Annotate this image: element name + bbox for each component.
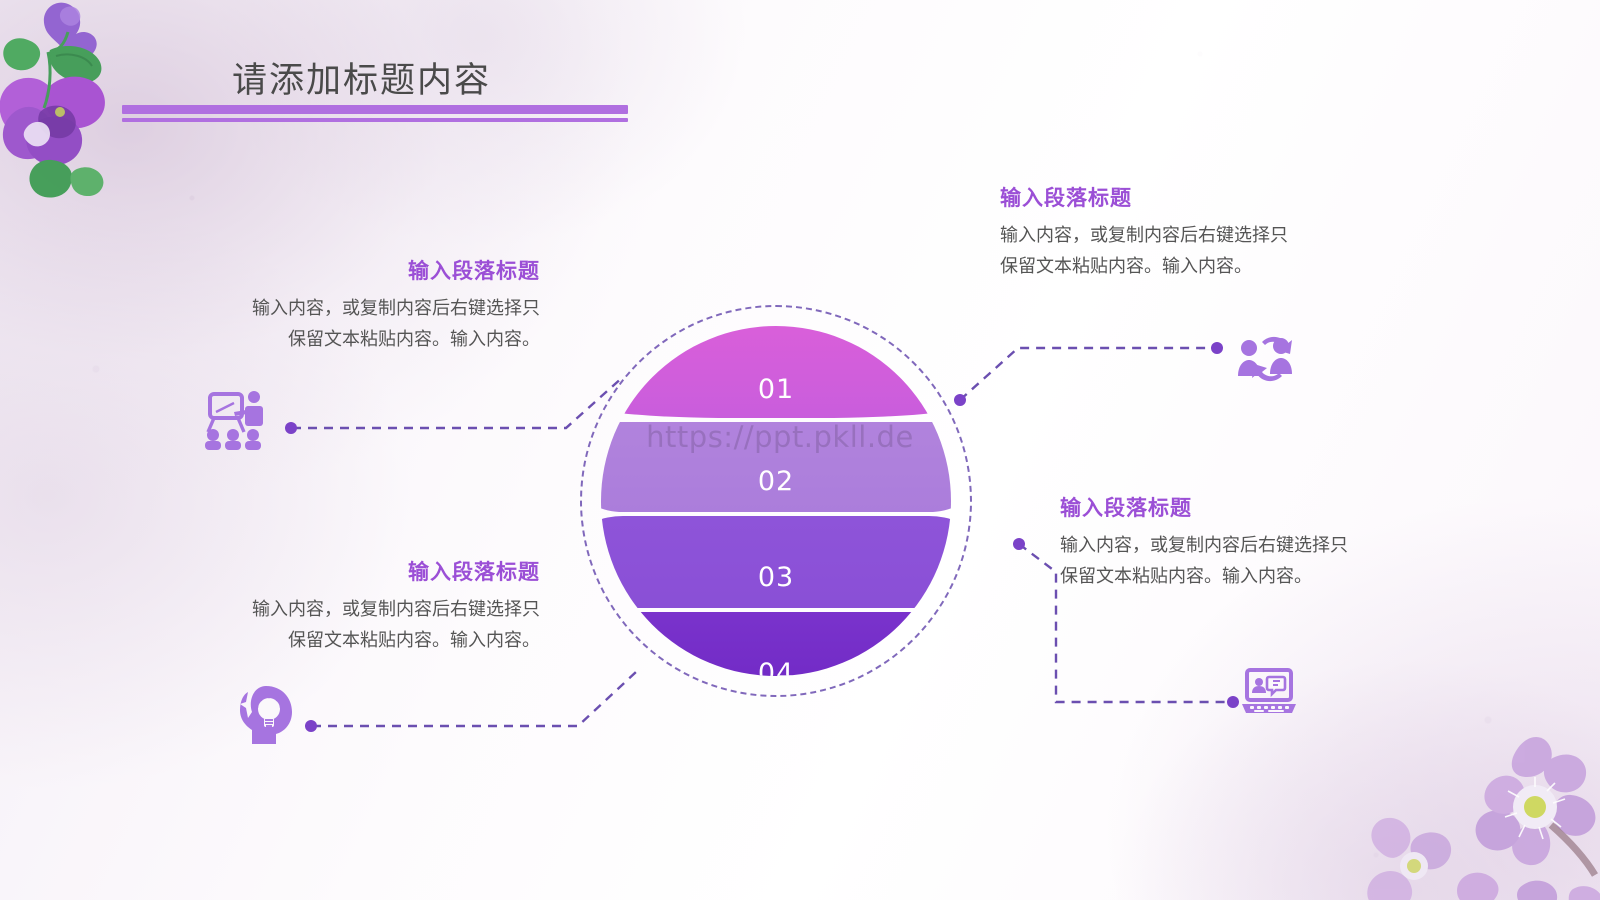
people-exchange-icon[interactable] (1236, 332, 1294, 384)
head-lightbulb-icon[interactable] (236, 682, 294, 744)
sphere-segment-02[interactable]: 02 (601, 422, 951, 512)
text-block-top-left-body: 输入内容，或复制内容后右键选择只保留文本粘贴内容。输入内容。 (250, 294, 540, 356)
sphere-segment-01[interactable]: 01 (601, 326, 951, 418)
training-board-icon[interactable] (202, 388, 266, 450)
sphere-segment-03[interactable]: 03 (601, 516, 951, 608)
sphere-body: 01 02 03 04 (601, 326, 951, 676)
text-block-bottom-right-heading: 输入段落标题 (1060, 492, 1360, 522)
text-block-bottom-left: 输入段落标题 输入内容，或复制内容后右键选择只保留文本粘贴内容。输入内容。 (250, 556, 540, 657)
text-block-top-right: 输入段落标题 输入内容，或复制内容后右键选择只保留文本粘贴内容。输入内容。 (1000, 182, 1300, 283)
text-block-top-left-heading: 输入段落标题 (250, 255, 540, 285)
text-block-top-right-body: 输入内容，或复制内容后右键选择只保留文本粘贴内容。输入内容。 (1000, 221, 1300, 283)
floral-decoration-bottom-right-secondary (1332, 810, 1492, 900)
floral-decoration-top-left (0, 0, 168, 207)
slide-canvas: 请添加标题内容 01 02 (0, 0, 1600, 900)
text-block-bottom-right-body: 输入内容，或复制内容后右键选择只保留文本粘贴内容。输入内容。 (1060, 531, 1360, 593)
segmented-sphere: 01 02 03 04 (580, 305, 972, 697)
text-block-bottom-left-heading: 输入段落标题 (250, 556, 540, 586)
sphere-segment-03-number: 03 (601, 562, 951, 593)
text-block-top-left: 输入段落标题 输入内容，或复制内容后右键选择只保留文本粘贴内容。输入内容。 (250, 255, 540, 356)
sphere-segment-02-number: 02 (601, 466, 951, 497)
slide-title: 请添加标题内容 (232, 52, 491, 103)
slide-title-text: 请添加标题内容 (232, 52, 491, 103)
title-underline-thick (122, 105, 628, 114)
title-underline-thin (122, 118, 628, 122)
text-block-bottom-left-body: 输入内容，或复制内容后右键选择只保留文本粘贴内容。输入内容。 (250, 595, 540, 657)
sphere-segment-04[interactable]: 04 (601, 612, 951, 676)
text-block-bottom-right: 输入段落标题 输入内容，或复制内容后右键选择只保留文本粘贴内容。输入内容。 (1060, 492, 1360, 593)
laptop-communication-icon[interactable] (1240, 668, 1298, 716)
sphere-segment-04-number: 04 (601, 658, 951, 676)
title-underline (122, 105, 628, 122)
text-block-top-right-heading: 输入段落标题 (1000, 182, 1300, 212)
sphere-segment-01-number: 01 (601, 374, 951, 405)
